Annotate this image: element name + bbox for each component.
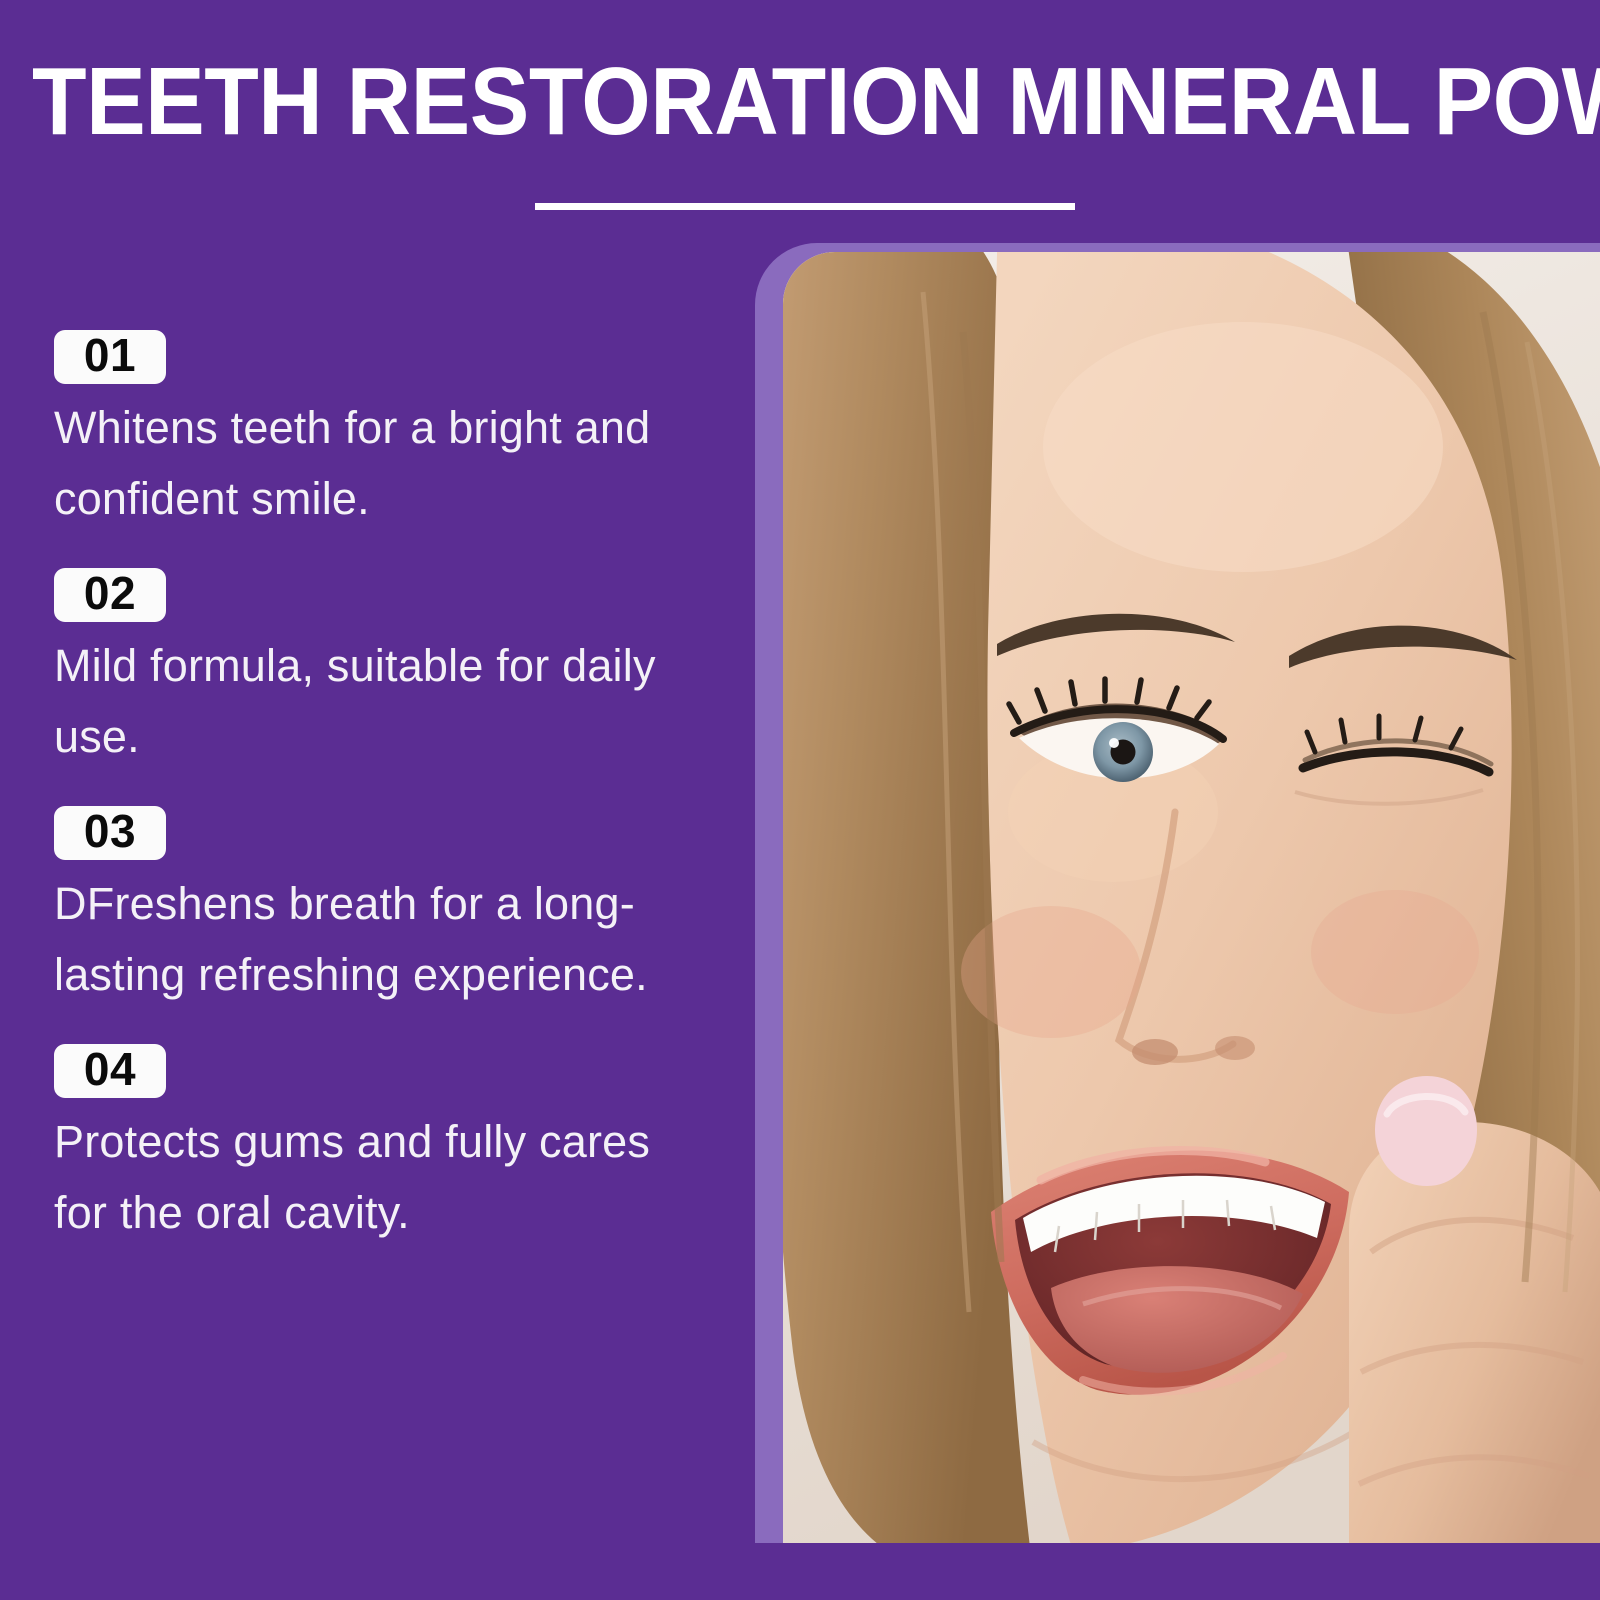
page-title: TEETH RESTORATION MINERAL POWDER bbox=[32, 52, 1455, 152]
feature-description: DFreshens breath for a long-lasting refr… bbox=[54, 868, 702, 1010]
feature-number-badge: 02 bbox=[54, 568, 166, 622]
feature-description: Whitens teeth for a bright and confident… bbox=[54, 392, 702, 534]
model-photo-illustration bbox=[783, 252, 1600, 1543]
feature-list: 01 Whitens teeth for a bright and confid… bbox=[54, 330, 714, 1248]
feature-description: Mild formula, suitable for daily use. bbox=[54, 630, 702, 772]
feature-number-badge: 04 bbox=[54, 1044, 166, 1098]
feature-item: 04 Protects gums and fully cares for the… bbox=[54, 1044, 714, 1248]
feature-description: Protects gums and fully cares for the or… bbox=[54, 1106, 702, 1248]
feature-number-badge: 01 bbox=[54, 330, 166, 384]
product-feature-poster: TEETH RESTORATION MINERAL POWDER 01 Whit… bbox=[0, 0, 1600, 1600]
feature-number-badge: 03 bbox=[54, 806, 166, 860]
title-divider bbox=[535, 203, 1075, 210]
model-photo bbox=[783, 252, 1600, 1543]
feature-item: 03 DFreshens breath for a long-lasting r… bbox=[54, 806, 714, 1010]
feature-item: 02 Mild formula, suitable for daily use. bbox=[54, 568, 714, 772]
feature-item: 01 Whitens teeth for a bright and confid… bbox=[54, 330, 714, 534]
